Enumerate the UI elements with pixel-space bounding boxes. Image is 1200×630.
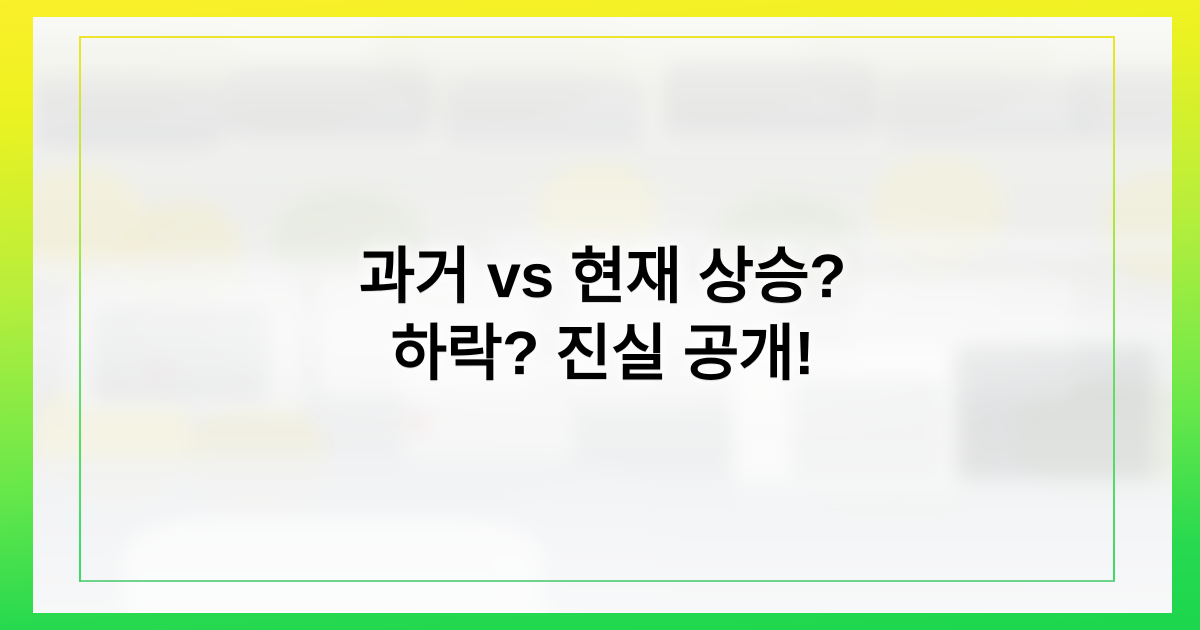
photo-plate: 과거 vs 현재 상승? 하락? 진실 공개! [33, 17, 1172, 613]
thumbnail-card: 과거 vs 현재 상승? 하락? 진실 공개! [0, 0, 1200, 630]
photo-center-glow-overlay [33, 17, 1172, 613]
